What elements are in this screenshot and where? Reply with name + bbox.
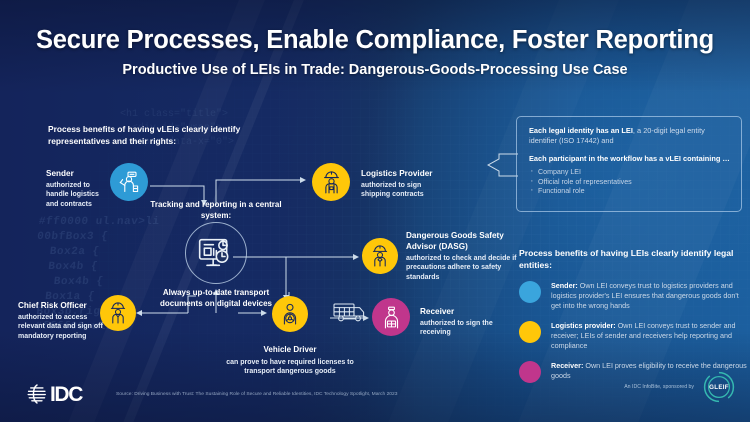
page-subtitle: Productive Use of LEIs in Trade: Dangero… bbox=[0, 62, 750, 78]
sponsor-block: An IDC InfoBite, sponsored by GLEIF bbox=[624, 370, 736, 404]
legend-desc-sender: Own LEI conveys trust to logistics provi… bbox=[551, 281, 739, 310]
legend-label-logistics-provider: Logistics provider: bbox=[551, 321, 616, 330]
role-sender-name: Sender bbox=[46, 168, 104, 179]
legend-text-sender: Sender: Own LEI conveys trust to logisti… bbox=[551, 280, 747, 311]
role-vehicle-driver-desc: can prove to have required licenses to t… bbox=[210, 358, 370, 377]
header: Secure Processes, Enable Compliance, Fos… bbox=[0, 26, 750, 78]
driver-icon bbox=[272, 296, 308, 332]
truck-icon bbox=[332, 300, 370, 331]
idc-wordmark: IDC bbox=[50, 384, 82, 405]
role-sender: Sender authorized to handle logistics an… bbox=[46, 168, 104, 209]
gleif-logo: GLEIF bbox=[702, 370, 736, 404]
sponsor-text: An IDC InfoBite, sponsored by bbox=[624, 384, 694, 390]
role-chief-risk-officer-desc: authorized to access relevant data and s… bbox=[18, 313, 104, 341]
role-receiver: Receiver authorized to sign the receivin… bbox=[420, 306, 504, 338]
role-dasg: Dangerous Goods Safety Advisor (DASG) au… bbox=[406, 230, 518, 282]
legend-dot-logistics-provider bbox=[519, 321, 541, 343]
central-system-label-top: Tracking and reporting in a central syst… bbox=[146, 200, 286, 221]
role-dasg-desc: authorized to check and decide if precau… bbox=[406, 254, 518, 282]
left-section-heading: Process benefits of having vLEIs clearly… bbox=[48, 124, 283, 147]
role-receiver-name: Receiver bbox=[420, 306, 504, 317]
callout-bullet-list: Company LEI Official role of representat… bbox=[529, 168, 730, 197]
role-logistics-provider-desc: authorized to sign shipping contracts bbox=[361, 181, 451, 200]
idc-globe-icon bbox=[26, 383, 48, 405]
role-chief-risk-officer: Chief Risk Officer authorized to access … bbox=[18, 300, 104, 341]
callout-bullet-item: Official role of representatives bbox=[529, 178, 730, 188]
legend-item-sender: Sender: Own LEI conveys trust to logisti… bbox=[519, 280, 747, 311]
logistics-worker-icon bbox=[312, 163, 350, 201]
receiver-icon bbox=[372, 298, 410, 336]
footer: IDC Source: Driving Business with Trust:… bbox=[0, 376, 750, 422]
callout-arrow-icon bbox=[487, 152, 519, 183]
callout-bullet-item: Company LEI bbox=[529, 168, 730, 178]
callout-bullet-item: Functional role bbox=[529, 187, 730, 197]
role-sender-desc: authorized to handle logistics and contr… bbox=[46, 181, 104, 209]
role-chief-risk-officer-name: Chief Risk Officer bbox=[18, 300, 104, 311]
risk-officer-icon bbox=[100, 295, 136, 331]
safety-advisor-icon bbox=[362, 238, 398, 274]
monitor-dashboard-icon bbox=[185, 222, 247, 284]
callout-line-1-bold: Each legal identity has an LEI bbox=[529, 126, 633, 135]
legend-text-logistics-provider: Logistics provider: Own LEI conveys trus… bbox=[551, 320, 747, 351]
role-dasg-name: Dangerous Goods Safety Advisor (DASG) bbox=[406, 230, 518, 252]
page-title: Secure Processes, Enable Compliance, Fos… bbox=[0, 26, 750, 55]
idc-logo: IDC bbox=[26, 383, 82, 405]
role-logistics-provider-name: Logistics Provider bbox=[361, 168, 451, 179]
callout-line-1: Each legal identity has an LEI, a 20-dig… bbox=[529, 126, 730, 146]
callout-line-2-bold: Each participant in the workflow has a v… bbox=[529, 154, 730, 163]
legend-dot-sender bbox=[519, 281, 541, 303]
legend-title: Process benefits of having LEIs clearly … bbox=[519, 248, 747, 271]
role-receiver-desc: authorized to sign the receiving bbox=[420, 319, 504, 338]
sender-person-icon bbox=[110, 163, 148, 201]
infographic-root: #ff0000 ul.nav>li 00bfBox3 { Box2a { Box… bbox=[0, 0, 750, 422]
legend-label-sender: Sender: bbox=[551, 281, 578, 290]
role-logistics-provider: Logistics Provider authorized to sign sh… bbox=[361, 168, 451, 200]
gleif-wordmark: GLEIF bbox=[702, 370, 736, 404]
callout-panel: Each legal identity has an LEI, a 20-dig… bbox=[516, 116, 742, 212]
legend-item-logistics-provider: Logistics provider: Own LEI conveys trus… bbox=[519, 320, 747, 351]
source-note: Source: Driving Business with Trust: The… bbox=[116, 391, 536, 398]
legend-label-receiver: Receiver: bbox=[551, 361, 583, 370]
role-vehicle-driver-name: Vehicle Driver bbox=[215, 345, 365, 356]
central-system-label-bottom: Always up-to-date transport documents on… bbox=[143, 288, 289, 309]
callout-line-2: Each participant in the workflow has a v… bbox=[529, 154, 730, 164]
